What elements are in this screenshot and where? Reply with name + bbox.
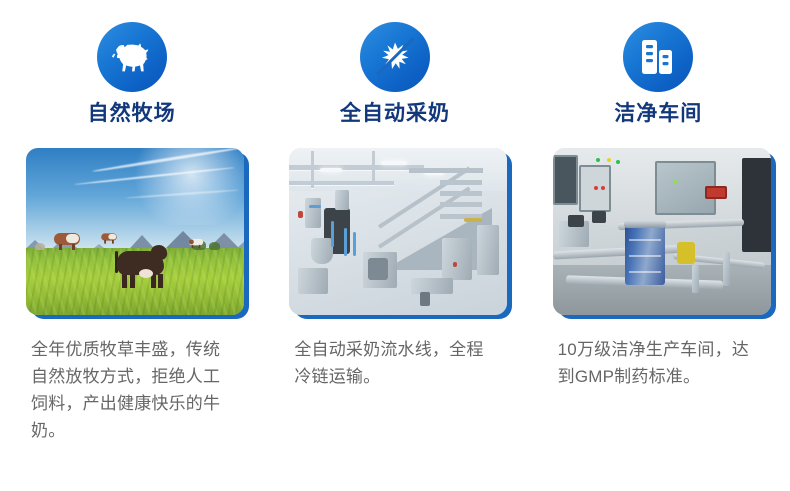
- photo-card-row: [0, 148, 790, 323]
- feature-title: 全自动采奶: [340, 103, 450, 124]
- feature-caption: 全年优质牧草丰盛，传统自然放牧方式，拒绝人工饲料，产出健康快乐的牛奶。: [31, 336, 236, 444]
- photo-card-1: [0, 148, 263, 323]
- feature-title: 自然牧场: [88, 103, 176, 124]
- feature-column-3: 洁净车间: [527, 0, 790, 145]
- feature-title: 洁净车间: [614, 103, 702, 124]
- milk-splash-icon: [360, 22, 430, 92]
- feature-column-1: 自然牧场: [0, 0, 263, 145]
- milking-line-photo: [289, 148, 507, 315]
- feature-column-2: 全自动采奶: [263, 0, 526, 145]
- photo-card-3: [527, 148, 790, 323]
- photo-card-2: [263, 148, 526, 323]
- feature-showcase-page: 自然牧场 全自动采奶: [0, 0, 790, 491]
- cow-icon: [97, 22, 167, 92]
- feature-icon-row: 自然牧场 全自动采奶: [0, 0, 790, 145]
- pasture-photo: [26, 148, 244, 315]
- factory-building-icon: [623, 22, 693, 92]
- cleanroom-photo: [553, 148, 771, 315]
- feature-caption: 10万级洁净生产车间，达到GMP制药标准。: [558, 336, 763, 390]
- feature-caption: 全自动采奶流水线，全程冷链运输。: [294, 336, 499, 390]
